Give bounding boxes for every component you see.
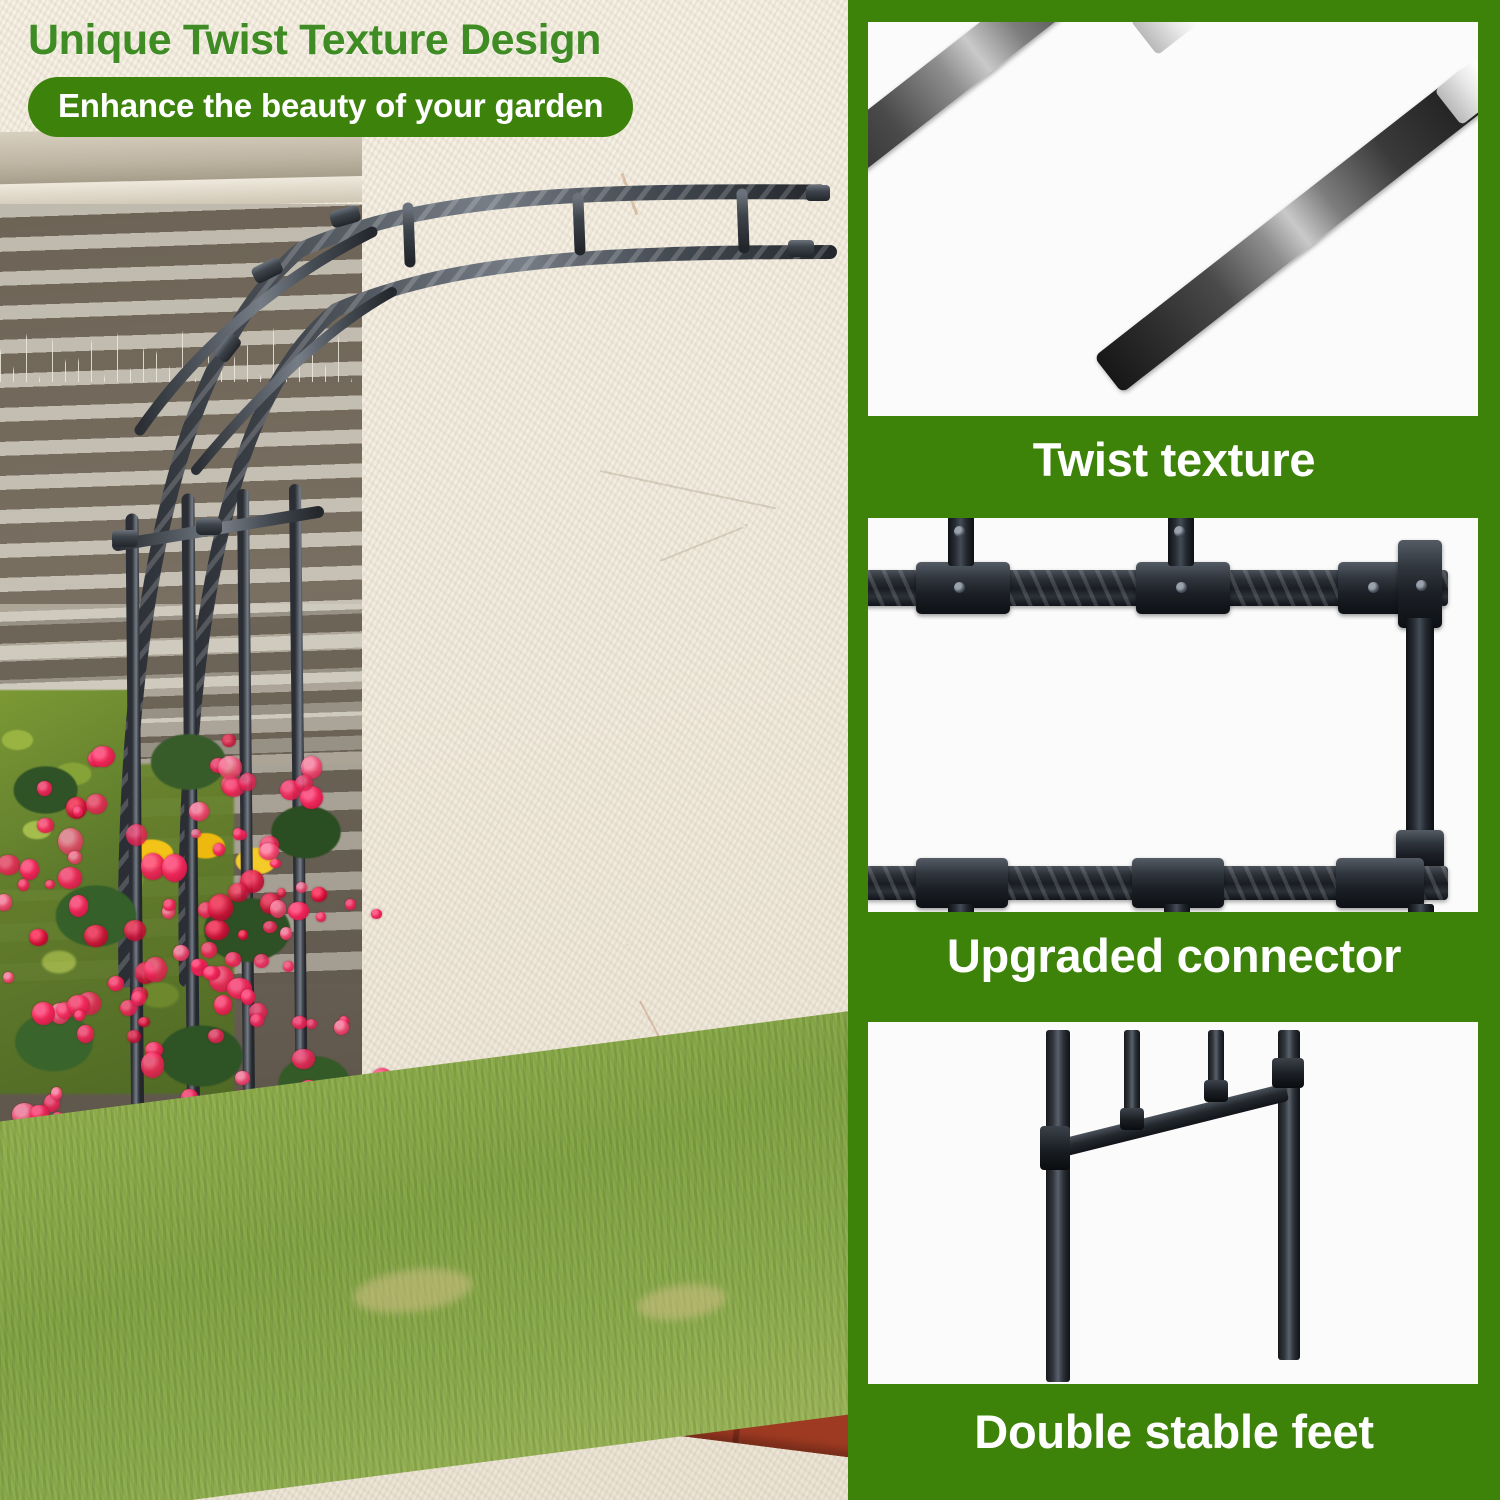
lawn-dry-patch (635, 1280, 729, 1325)
detail-card-double-stable-feet (868, 1022, 1478, 1384)
caption-upgraded-connector: Upgraded connector (848, 928, 1500, 983)
headline-block: Unique Twist Texture Design Enhance the … (28, 18, 633, 137)
lawn-dry-patch (351, 1262, 475, 1319)
page-title: Unique Twist Texture Design (28, 18, 633, 63)
connector-screw (1368, 582, 1379, 593)
brace-collar-right (1272, 1058, 1304, 1088)
twist-tube-right (1094, 68, 1478, 394)
brace-collar-left (1040, 1126, 1070, 1170)
corner-vertical-post (1406, 618, 1434, 840)
connector-screw (954, 526, 965, 537)
connector-joint (916, 858, 1008, 908)
connector-screw (1176, 582, 1187, 593)
connector-joint (1132, 858, 1224, 908)
vertical-post (1168, 518, 1194, 566)
connector-joint (1336, 858, 1424, 908)
connector-screw (1416, 580, 1427, 591)
brace-collar-mid-b (1204, 1080, 1228, 1102)
caption-twist-texture: Twist texture (848, 432, 1500, 487)
hero-lifestyle-photo: Unique Twist Texture Design Enhance the … (0, 0, 848, 1500)
vertical-post-down (1164, 904, 1190, 912)
feature-panel-column: Twist texture (848, 0, 1500, 1500)
subtitle-badge: Enhance the beauty of your garden (28, 77, 633, 137)
detail-card-twist-texture (868, 22, 1478, 416)
detail-card-upgraded-connector (868, 518, 1478, 912)
cross-brace (1056, 1083, 1289, 1158)
brace-collar-mid-a (1120, 1108, 1144, 1130)
connector-screw (954, 582, 965, 593)
connector-screw (1174, 526, 1185, 537)
vertical-post (948, 518, 974, 566)
twist-tube-left (868, 22, 1192, 235)
caption-double-stable-feet: Double stable feet (848, 1404, 1500, 1459)
product-feature-poster: Unique Twist Texture Design Enhance the … (0, 0, 1500, 1500)
stake-leg-left (1046, 1030, 1070, 1382)
vertical-post-down (948, 904, 974, 912)
vertical-post-down (1408, 904, 1434, 912)
chrome-tip-left (1130, 22, 1244, 55)
